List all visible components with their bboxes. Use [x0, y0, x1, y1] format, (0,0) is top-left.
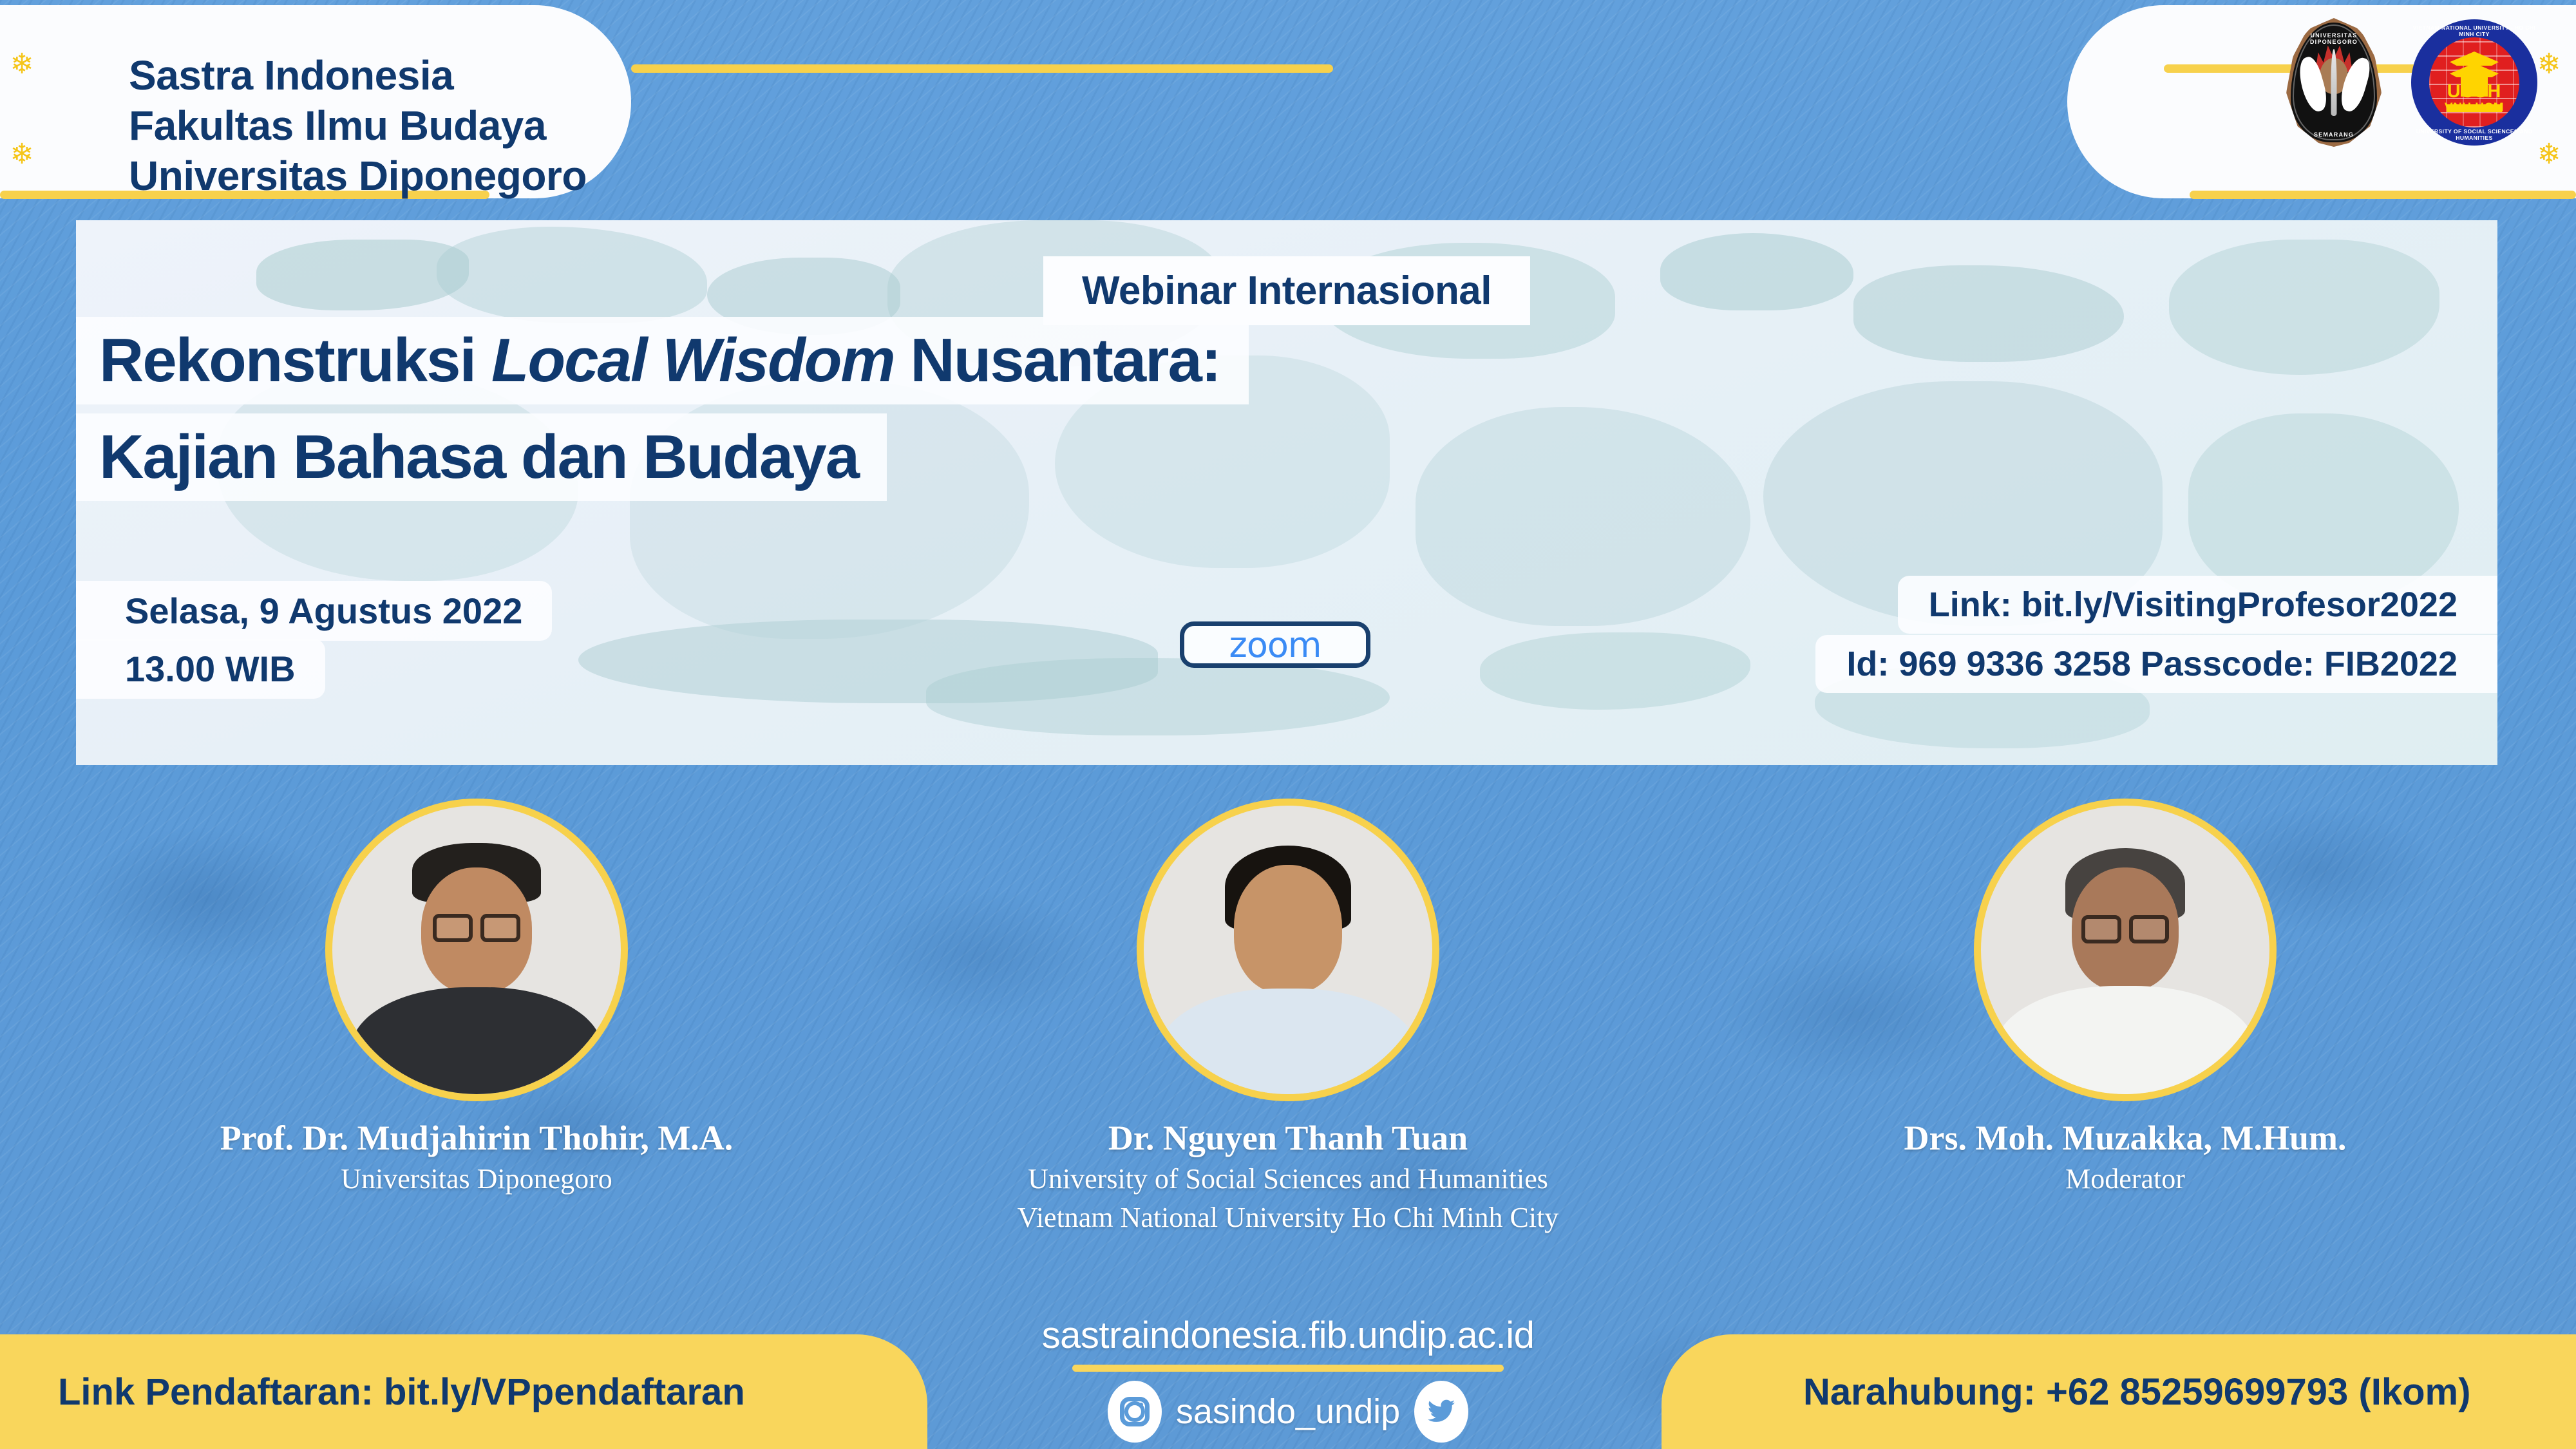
- event-time: 13.00 WIB: [76, 639, 325, 699]
- event-kicker: Webinar Internasional: [1043, 256, 1530, 325]
- title-post: Nusantara:: [895, 326, 1220, 395]
- speaker-name: Dr. Nguyen Thanh Tuan: [972, 1118, 1604, 1158]
- ussh-logo-icon: VIETNAM NATIONAL UNIVERSITY - HO CHI MIN…: [2411, 19, 2537, 146]
- speaker-card: Dr. Nguyen Thanh Tuan University of Soci…: [972, 799, 1604, 1235]
- footer-divider: [1072, 1365, 1504, 1372]
- title-line-2-text: Kajian Bahasa dan Budaya: [99, 422, 858, 491]
- batik-motif-icon: ❄: [2535, 140, 2563, 169]
- website-url[interactable]: sastraindonesia.fib.undip.ac.id: [0, 1314, 2576, 1357]
- institution-line-3: Universitas Diponegoro: [129, 151, 587, 201]
- batik-motif-icon: ❄: [8, 50, 36, 79]
- avatar: [325, 799, 628, 1101]
- top-rule-left: [631, 64, 1333, 73]
- speaker-name: Drs. Moh. Muzakka, M.Hum.: [1810, 1118, 2441, 1158]
- ussh-acronym: USSH: [2411, 82, 2537, 101]
- institution-line-1: Sastra Indonesia: [129, 50, 587, 100]
- ussh-arc-top-text: VIETNAM NATIONAL UNIVERSITY - HO CHI MIN…: [2411, 24, 2537, 37]
- poster-canvas: Sastra Indonesia Fakultas Ilmu Budaya Un…: [0, 0, 2576, 1449]
- batik-motif-icon: ❄: [2535, 50, 2563, 79]
- ussh-sub-acronym: VNU HCM: [2411, 102, 2537, 114]
- speaker-name: Prof. Dr. Mudjahirin Thohir, M.A.: [161, 1118, 792, 1158]
- undip-logo-bottom-text: SEMARANG: [2286, 131, 2382, 138]
- instagram-handle[interactable]: sasindo_undip: [1176, 1392, 1400, 1432]
- instagram-icon[interactable]: [1108, 1381, 1162, 1443]
- logo-group: UNIVERSITAS DIPONEGORO SEMARANG VIETNAM …: [2286, 18, 2537, 147]
- event-title-line-2: Kajian Bahasa dan Budaya: [76, 413, 887, 501]
- avatar: [1974, 799, 2277, 1101]
- event-link[interactable]: Link: bit.ly/VisitingProfesor2022: [1898, 576, 2497, 634]
- undip-logo-top-text: UNIVERSITAS DIPONEGORO: [2286, 32, 2382, 45]
- zoom-wordmark: zoom: [1229, 625, 1321, 665]
- batik-motif-icon: ❄: [8, 140, 36, 169]
- event-date: Selasa, 9 Agustus 2022: [76, 581, 552, 641]
- institution-name: Sastra Indonesia Fakultas Ilmu Budaya Un…: [129, 50, 587, 201]
- title-pre: Rekonstruksi: [99, 326, 491, 395]
- event-meeting-credentials: Id: 969 9336 3258 Passcode: FIB2022: [1815, 635, 2497, 693]
- social-links: sasindo_undip: [0, 1381, 2576, 1443]
- speaker-role: Moderator: [1810, 1162, 2441, 1197]
- speaker-affiliation: Universitas Diponegoro: [161, 1162, 792, 1197]
- speaker-affiliation: University of Social Sciences and Humani…: [972, 1162, 1604, 1197]
- ussh-arc-bottom-text: UNIVERSITY OF SOCIAL SCIENCES AND HUMANI…: [2411, 128, 2537, 141]
- speaker-card: Prof. Dr. Mudjahirin Thohir, M.A. Univer…: [161, 799, 792, 1197]
- twitter-icon[interactable]: [1414, 1381, 1468, 1443]
- institution-line-2: Fakultas Ilmu Budaya: [129, 100, 587, 151]
- zoom-logo-icon: zoom: [1180, 621, 1370, 668]
- event-title-line-1: Rekonstruksi Local Wisdom Nusantara:: [76, 317, 1249, 404]
- speaker-card: Drs. Moh. Muzakka, M.Hum. Moderator: [1810, 799, 2441, 1197]
- avatar: [1137, 799, 1439, 1101]
- undip-logo-icon: UNIVERSITAS DIPONEGORO SEMARANG: [2286, 18, 2382, 147]
- speaker-affiliation: Vietnam National University Ho Chi Minh …: [972, 1200, 1604, 1235]
- title-emphasis: Local Wisdom: [491, 326, 895, 395]
- event-card: Webinar Internasional Rekonstruksi Local…: [76, 220, 2497, 765]
- footer-center: sastraindonesia.fib.undip.ac.id sasindo_…: [0, 1314, 2576, 1443]
- top-rule-right-lower: [2190, 191, 2576, 199]
